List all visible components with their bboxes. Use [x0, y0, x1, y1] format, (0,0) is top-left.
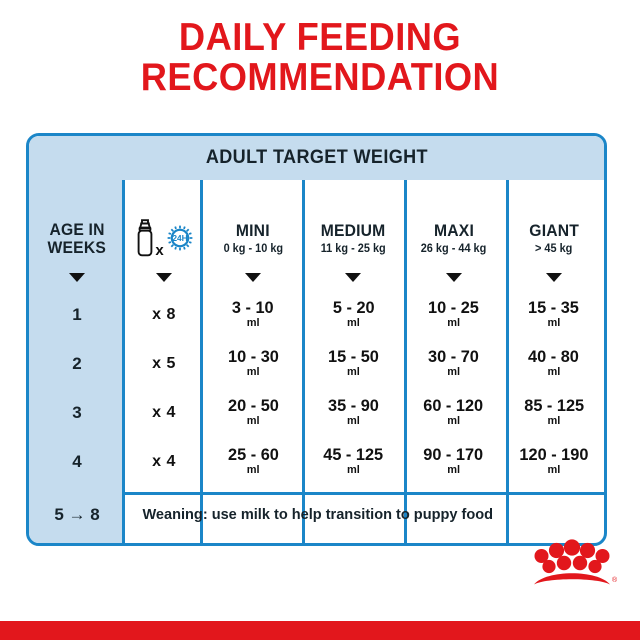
age-in-weeks-header: AGE IN WEEKS — [29, 180, 125, 264]
amount-maxi: 60 - 120 — [424, 397, 484, 414]
adult-target-weight-band: ADULT TARGET WEIGHT — [29, 136, 604, 180]
bottle-per-day-icon-group: x — [133, 212, 194, 258]
unit-label: ml — [247, 463, 260, 478]
unit-label: ml — [547, 316, 560, 331]
table-row: 3 x 4 20 - 50 ml 35 - 90 ml 60 - 120 ml … — [29, 388, 604, 437]
arrow-down-icon-mini — [245, 273, 261, 282]
column-header-medium: MEDIUM 11 kg - 25 kg — [303, 180, 403, 264]
amount-mini: 3 - 10 — [232, 299, 274, 316]
svg-text:24H: 24H — [172, 233, 187, 243]
frequency-value: x 4 — [152, 453, 176, 471]
weaning-note: Weaning: use milk to help transition to … — [125, 506, 590, 523]
amount-mini: 25 - 60 — [228, 446, 279, 463]
size-name-medium: MEDIUM — [321, 223, 386, 241]
bottom-red-bar — [0, 621, 640, 640]
table-row: 2 x 5 10 - 30 ml 15 - 50 ml 30 - 70 ml 4… — [29, 339, 604, 388]
unit-label: ml — [347, 414, 360, 429]
royal-canin-crown-logo: ® — [526, 536, 618, 592]
amount-mini: 10 - 30 — [228, 348, 279, 365]
size-name-giant: GIANT — [529, 223, 579, 241]
size-range-medium: 11 kg - 25 kg — [321, 241, 386, 258]
arrow-down-icon-frequency — [156, 273, 172, 282]
size-range-giant: > 45 kg — [535, 241, 572, 258]
age-value: 3 — [72, 403, 81, 423]
table-grid: AGE IN WEEKS — [29, 180, 604, 543]
unit-label: ml — [347, 365, 360, 380]
arrow-down-icon-giant — [546, 273, 562, 282]
unit-label: ml — [447, 414, 460, 429]
weaning-row: 5 → 8 Weaning: use milk to help transiti… — [29, 486, 604, 543]
multiplier-symbol: x — [155, 242, 163, 259]
unit-label: ml — [547, 414, 560, 429]
svg-text:®: ® — [612, 576, 618, 584]
amount-medium: 45 - 125 — [323, 446, 383, 463]
size-name-maxi: MAXI — [434, 223, 474, 241]
page-title-line-2: RECOMMENDATION — [22, 58, 617, 98]
size-name-mini: MINI — [236, 223, 270, 241]
amount-medium: 5 - 20 — [332, 299, 374, 316]
amount-giant: 15 - 35 — [528, 299, 579, 316]
feeding-table: ADULT TARGET WEIGHT AGE IN WEEKS — [26, 133, 607, 546]
24h-clock-icon: 24H — [165, 223, 195, 258]
column-header-mini: MINI 0 kg - 10 kg — [203, 180, 303, 264]
column-arrow-row — [29, 264, 604, 290]
adult-target-weight-label: ADULT TARGET WEIGHT — [205, 147, 427, 169]
table-header-row: AGE IN WEEKS — [29, 180, 604, 264]
unit-label: ml — [247, 316, 260, 331]
table-row: 1 x 8 3 - 10 ml 5 - 20 ml 10 - 25 ml 15 … — [29, 290, 604, 339]
age-value: 1 — [72, 305, 81, 325]
feeding-frequency-header: x — [125, 180, 203, 264]
unit-label: ml — [347, 463, 360, 478]
baby-bottle-icon — [133, 218, 157, 258]
unit-label: ml — [447, 365, 460, 380]
arrow-down-icon-medium — [345, 273, 361, 282]
size-range-mini: 0 kg - 10 kg — [223, 241, 283, 258]
amount-mini: 20 - 50 — [228, 397, 279, 414]
weaning-age-range: 5 → 8 — [29, 505, 125, 525]
amount-giant: 120 - 190 — [519, 446, 588, 463]
feeding-recommendation-infographic: DAILY FEEDING RECOMMENDATION ADULT TARGE… — [0, 0, 640, 640]
age-value: 2 — [72, 354, 81, 374]
amount-giant: 40 - 80 — [528, 348, 579, 365]
page-title: DAILY FEEDING RECOMMENDATION — [0, 18, 640, 98]
amount-medium: 35 - 90 — [328, 397, 379, 414]
frequency-value: x 4 — [152, 404, 176, 422]
unit-label: ml — [447, 463, 460, 478]
amount-giant: 85 - 125 — [524, 397, 584, 414]
amount-maxi: 30 - 70 — [428, 348, 479, 365]
frequency-value: x 5 — [152, 355, 176, 373]
unit-label: ml — [247, 365, 260, 380]
frequency-value: x 8 — [152, 306, 176, 324]
column-header-maxi: MAXI 26 kg - 44 kg — [404, 180, 504, 264]
amount-medium: 15 - 50 — [328, 348, 379, 365]
arrow-down-icon-age — [69, 273, 85, 282]
unit-label: ml — [447, 316, 460, 331]
amount-maxi: 10 - 25 — [428, 299, 479, 316]
unit-label: ml — [547, 365, 560, 380]
unit-label: ml — [547, 463, 560, 478]
unit-label: ml — [247, 414, 260, 429]
table-row: 4 x 4 25 - 60 ml 45 - 125 ml 90 - 170 ml… — [29, 437, 604, 486]
size-range-maxi: 26 kg - 44 kg — [421, 241, 487, 258]
age-header-line-2: WEEKS — [48, 240, 106, 258]
age-header-line-1: AGE IN — [49, 222, 104, 240]
column-header-giant: GIANT > 45 kg — [504, 180, 604, 264]
page-title-line-1: DAILY FEEDING — [22, 18, 617, 58]
age-value: 4 — [72, 452, 81, 472]
unit-label: ml — [347, 316, 360, 331]
amount-maxi: 90 - 170 — [424, 446, 484, 463]
arrow-down-icon-maxi — [446, 273, 462, 282]
